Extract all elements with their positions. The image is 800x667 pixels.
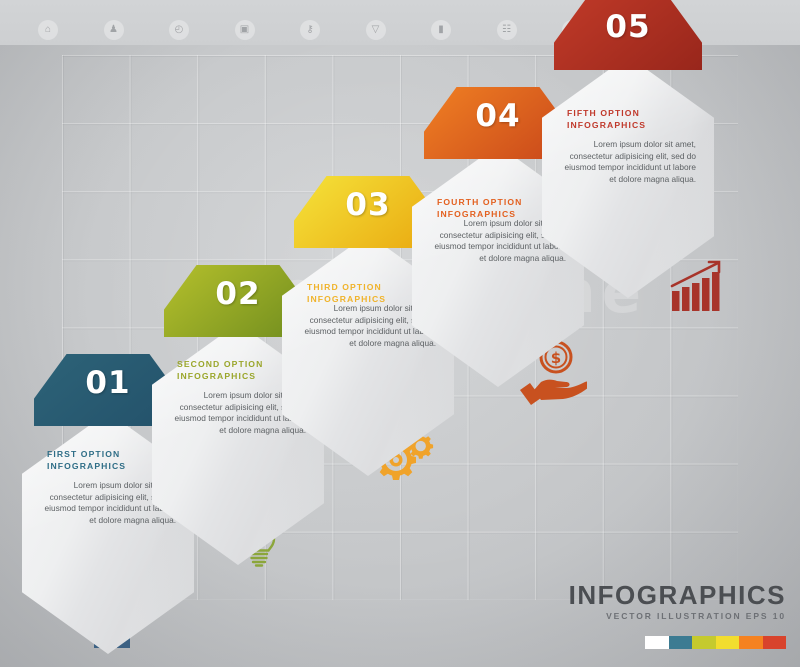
book-icon[interactable]: ▮ bbox=[431, 20, 451, 40]
step-number: 01 bbox=[85, 365, 130, 401]
color-swatch-5 bbox=[739, 636, 763, 649]
brand-block: INFOGRAPHICS VECTOR ILLUSTRATION EPS 10 bbox=[569, 581, 786, 621]
color-swatch-4 bbox=[716, 636, 740, 649]
home-icon[interactable]: ⌂ bbox=[38, 20, 58, 40]
svg-text:$: $ bbox=[551, 349, 561, 367]
monitor-icon[interactable]: ▣ bbox=[235, 20, 255, 40]
shield-icon[interactable]: ▽ bbox=[366, 20, 386, 40]
color-swatch-2 bbox=[669, 636, 693, 649]
step-number: 05 bbox=[605, 9, 650, 45]
step-number: 03 bbox=[345, 187, 390, 223]
color-swatch-1 bbox=[645, 636, 669, 649]
bar-chart-growth-icon bbox=[668, 258, 728, 319]
brand-subtitle: VECTOR ILLUSTRATION EPS 10 bbox=[569, 611, 786, 621]
color-swatch-6 bbox=[763, 636, 787, 649]
color-swatch-3 bbox=[692, 636, 716, 649]
color-swatch-strip bbox=[645, 636, 786, 649]
key-icon[interactable]: ⚷ bbox=[300, 20, 320, 40]
calendar-icon[interactable]: ☷ bbox=[497, 20, 517, 40]
step-number: 02 bbox=[215, 276, 260, 312]
step-number: 04 bbox=[475, 98, 520, 134]
infographic-canvas: dreamstime ⌂♟◴▣⚷▽▮☷◔● 01FIRST OPTIONINFO… bbox=[0, 0, 800, 667]
clock-icon[interactable]: ◴ bbox=[169, 20, 189, 40]
brand-title: INFOGRAPHICS bbox=[569, 581, 786, 609]
person-icon[interactable]: ♟ bbox=[104, 20, 124, 40]
